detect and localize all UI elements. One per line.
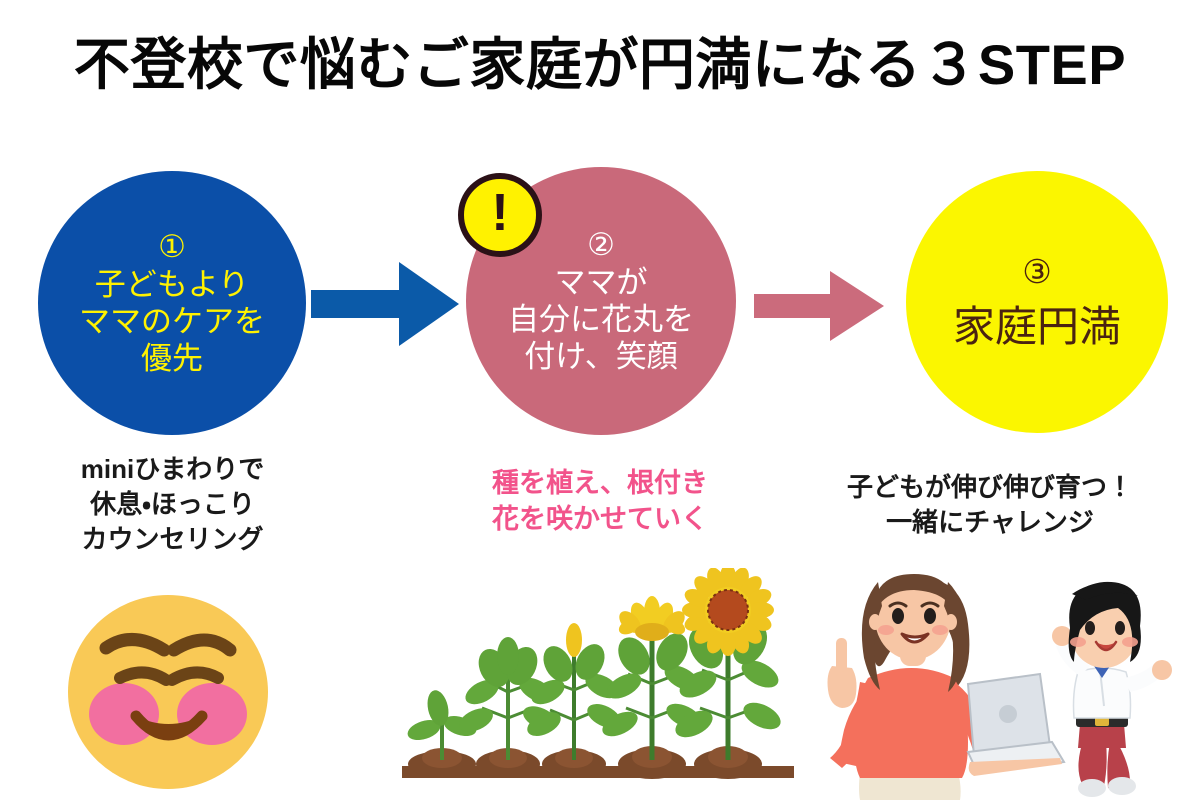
laptop-icon xyxy=(968,674,1064,776)
step-text-2: ママが 自分に花丸を 付け、笑顔 xyxy=(508,265,694,375)
step-text-1: 子どもより ママのケアを 優先 xyxy=(79,267,265,377)
sunflower-growth-stages-icon xyxy=(398,568,798,796)
step-text-3: 家庭円満 xyxy=(953,302,1121,352)
smiling-face-icon xyxy=(62,592,274,792)
step-caption-3: 子どもが伸び伸び育つ！ 一緒にチャレンジ xyxy=(820,470,1160,540)
soil-strip xyxy=(402,746,794,779)
arrow-step1-to-step2 xyxy=(311,258,459,350)
plant-stage-5 xyxy=(671,568,785,760)
step-number-1: ① xyxy=(158,229,186,266)
step-caption-2: 種を植え、根付き 花を咲かせていく xyxy=(440,465,760,537)
exclamation-mark-glyph: ! xyxy=(491,187,508,239)
step-circle-3: ③ 家庭円満 xyxy=(906,171,1168,433)
page-title: 不登校で悩むご家庭が円満になる３STEP xyxy=(0,34,1200,96)
step-number-3: ③ xyxy=(1022,253,1052,292)
mother-and-child-icon xyxy=(812,566,1182,800)
infographic-canvas: 不登校で悩むご家庭が円満になる３STEP ① 子どもより ママのケアを 優先 ②… xyxy=(0,0,1200,800)
step-caption-1: miniひまわりで 休息・ほっこり カウンセリング xyxy=(20,452,325,556)
step-number-2: ② xyxy=(587,227,615,264)
exclamation-icon: ! xyxy=(458,173,542,257)
step-circle-1: ① 子どもより ママのケアを 優先 xyxy=(38,171,306,435)
child-figure xyxy=(1052,582,1172,797)
arrow-step2-to-step3 xyxy=(754,268,884,344)
